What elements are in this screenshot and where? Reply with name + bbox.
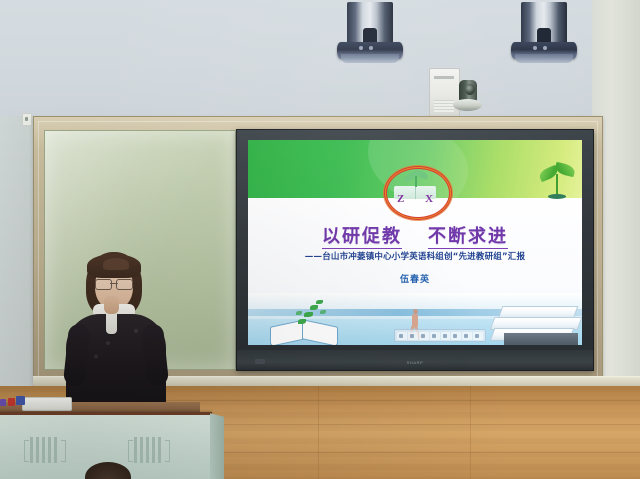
glasses-icon [95,279,133,288]
ceiling-camera [457,80,479,110]
moving-head-light-right [511,2,577,64]
floor-plank-line-2 [470,386,471,479]
slide-title-part1: 以研促教 [322,226,402,249]
camera-lens-icon [465,84,475,95]
hand-holding-microphone [104,296,119,314]
display-brand-label: SHARP [407,360,424,365]
wall-socket-plate-left [22,113,32,126]
glasses-lens-right [116,279,133,290]
toolbar-button-7[interactable] [462,332,472,340]
hair-front [87,254,141,278]
light-lens-icon [515,54,573,63]
toolbar-button-4[interactable] [430,332,440,340]
desk-purple-marker [0,399,6,406]
slide-subtitle: ——台山市冲蒌镇中心小学英语科组创“先进教研组”汇报 [248,250,582,262]
desk-blue-marker [16,396,25,405]
toolbar-button-3[interactable] [419,332,429,340]
control-box-label-strip [434,76,454,79]
school-logo: Z X [384,166,446,214]
toolbar-button-8[interactable] [473,332,483,340]
presenter-person [62,252,170,424]
control-box [429,68,460,118]
desk-white-box [22,397,72,411]
white-slab-stack [470,301,580,345]
slab-shadow-block [504,333,578,345]
ppt-floating-toolbar[interactable] [394,329,486,342]
display-bottom-bezel: SHARP [237,350,593,370]
display-screen[interactable]: Z X 以研促教不断求进 ——台山市冲蒌镇中心小学英语科组创“先进教研组”汇报 … [248,140,582,345]
slide-title: 以研促教不断求进 [248,222,582,248]
floor-plank-line-1 [318,386,319,479]
camera-dome-icon [453,99,482,111]
toolbar-button-5[interactable] [441,332,451,340]
sprout-stem [556,174,558,196]
ir-sensor-icon [255,359,265,364]
sprout-decoration-icon [540,162,574,200]
podium-motif-1 [30,437,60,463]
presentation-slide: Z X 以研促教不断求进 ——台山市冲蒌镇中心小学英语科组创“先进教研组”汇报 … [248,140,582,345]
toolbar-button-2[interactable] [408,332,418,340]
green-sprout-burst-icon [296,299,330,327]
slide-presenter-name: 伍春英 [248,272,582,285]
light-lens-icon [341,54,399,63]
desk-red-marker [8,398,15,406]
moving-head-light-left [337,2,403,64]
sprout-soil [548,194,566,199]
toolbar-button-6[interactable] [451,332,461,340]
classroom-photo-scene: Z X 以研促教不断求进 ——台山市冲蒌镇中心小学英语科组创“先进教研组”汇报 … [0,0,640,479]
control-box-vent [434,100,454,112]
podium-motif-2 [134,437,164,463]
logo-sprout-icon [404,171,428,187]
slide-title-part2: 不断求进 [428,226,508,249]
slide-illustration-band [248,293,582,345]
logo-stem [415,176,417,187]
toolbar-button-1[interactable] [397,332,407,340]
interactive-flat-panel[interactable]: Z X 以研促教不断求进 ——台山市冲蒌镇中心小学英语科组创“先进教研组”汇报 … [236,129,594,371]
left-wall [0,116,36,386]
logo-letters: Z X [384,193,446,205]
podium-side-panel [210,413,224,479]
glasses-lens-left [95,279,112,290]
